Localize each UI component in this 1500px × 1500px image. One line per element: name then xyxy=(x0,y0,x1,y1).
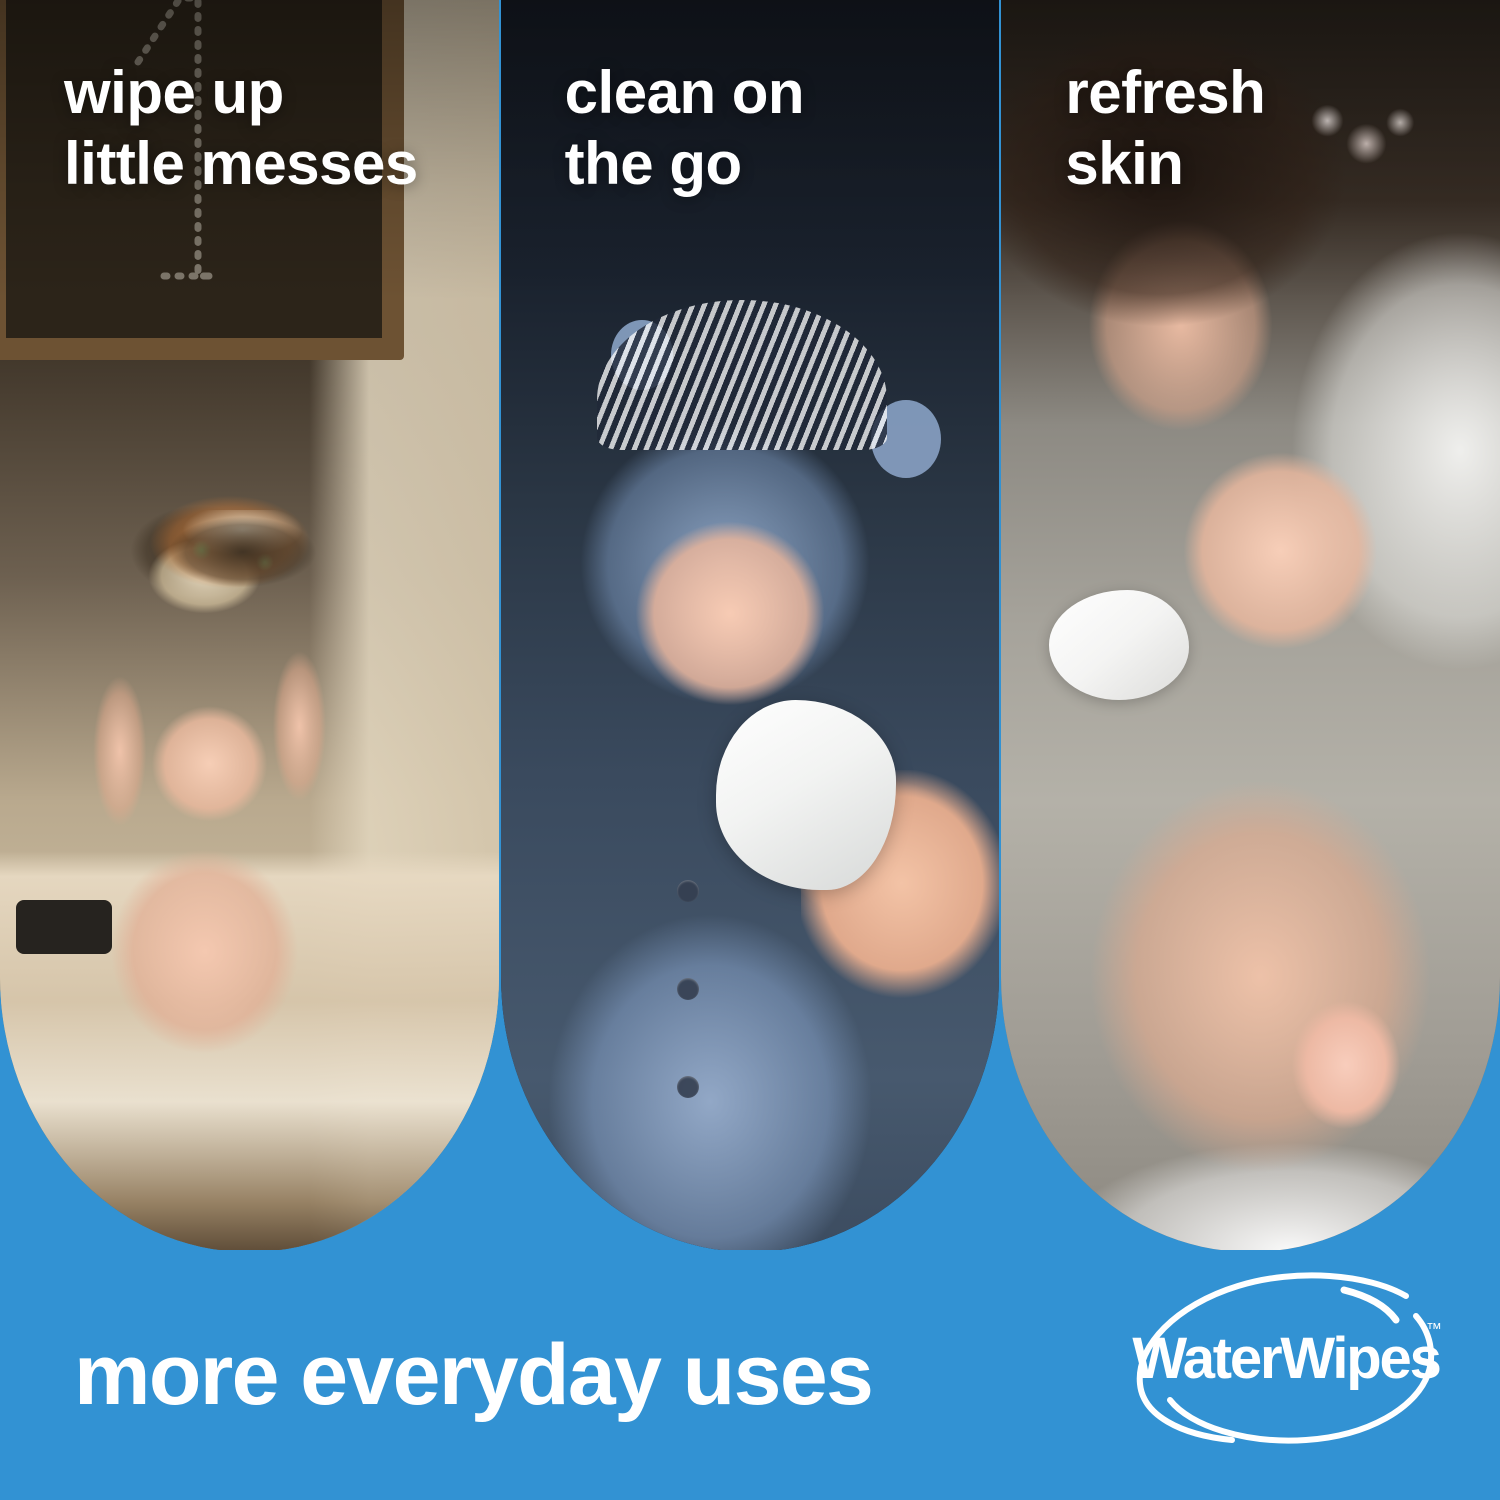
panel-2-caption: clean on the go xyxy=(565,58,804,200)
panel-wipe-up-little-messes[interactable]: wipe up little messes xyxy=(0,0,499,1252)
logo-wordmark: WaterWipes xyxy=(1106,1330,1466,1388)
water-wipe-tissue xyxy=(1049,590,1189,700)
romper-button xyxy=(677,1076,699,1098)
trademark-symbol: ™ xyxy=(1426,1322,1442,1338)
photo-panel-row: wipe up little messes clean on the go xyxy=(0,0,1500,1252)
footer-bar: more everyday uses WaterWipes ™ xyxy=(0,1250,1500,1500)
panel-3-caption: refresh skin xyxy=(1065,58,1265,200)
footer-headline: more everyday uses xyxy=(74,1332,872,1418)
hair-scrunchie xyxy=(1291,88,1421,184)
romper-button xyxy=(677,978,699,1000)
high-chair-buckle xyxy=(16,900,112,954)
romper-button-placket xyxy=(677,880,703,1170)
panel-clean-on-the-go[interactable]: clean on the go xyxy=(501,0,1000,1252)
panel-refresh-skin[interactable]: refresh skin xyxy=(1001,0,1500,1252)
advertisement-canvas: wipe up little messes clean on the go xyxy=(0,0,1500,1500)
baby-foot xyxy=(1281,990,1411,1140)
romper-button xyxy=(677,880,699,902)
panel-1-caption: wipe up little messes xyxy=(64,58,418,200)
frosting-on-head xyxy=(150,510,335,610)
water-wipe-tissue xyxy=(716,700,896,890)
waterwipes-logo[interactable]: WaterWipes ™ xyxy=(1106,1272,1466,1448)
